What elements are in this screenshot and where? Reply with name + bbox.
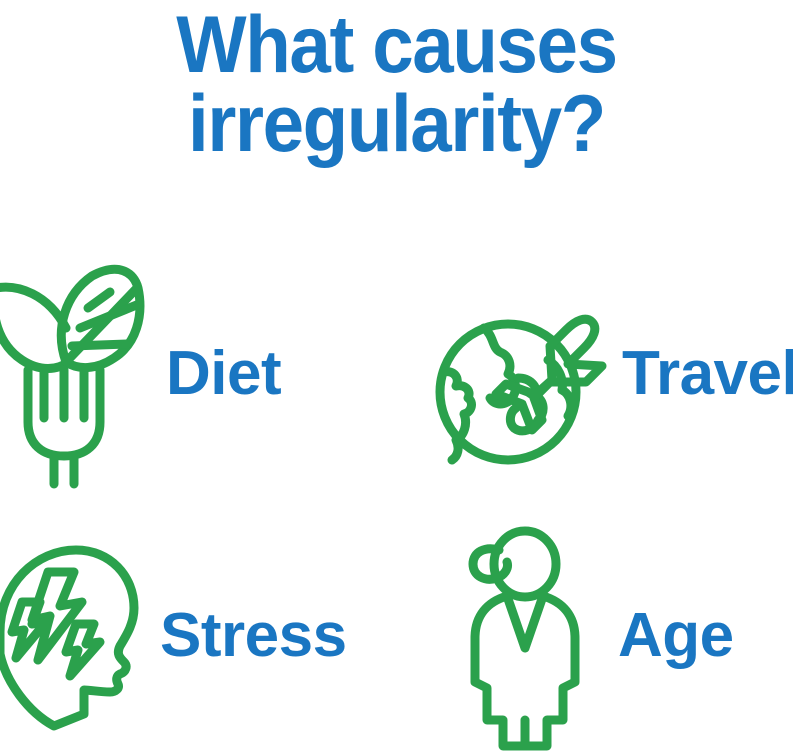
title-line-2: irregularity? [32, 87, 762, 162]
globe-with-airplane-icon [430, 274, 610, 474]
cause-item-age: Age [455, 520, 793, 752]
cause-label-diet: Diet [166, 343, 281, 405]
page-title: What causes irregularity? [0, 8, 793, 161]
cause-item-stress: Stress [0, 520, 388, 752]
cause-label-travel: Travel [622, 343, 793, 405]
infographic-root: What causes irregularity? [0, 0, 793, 752]
cause-label-stress: Stress [160, 605, 347, 667]
head-with-lightning-bolts-icon [0, 536, 148, 736]
cause-item-travel: Travel [430, 258, 793, 490]
cause-label-age: Age [618, 605, 734, 667]
title-line-1: What causes [32, 8, 762, 83]
elderly-person-icon [455, 524, 590, 749]
fork-with-leaves-icon [0, 258, 148, 490]
cause-item-diet: Diet [0, 258, 388, 490]
